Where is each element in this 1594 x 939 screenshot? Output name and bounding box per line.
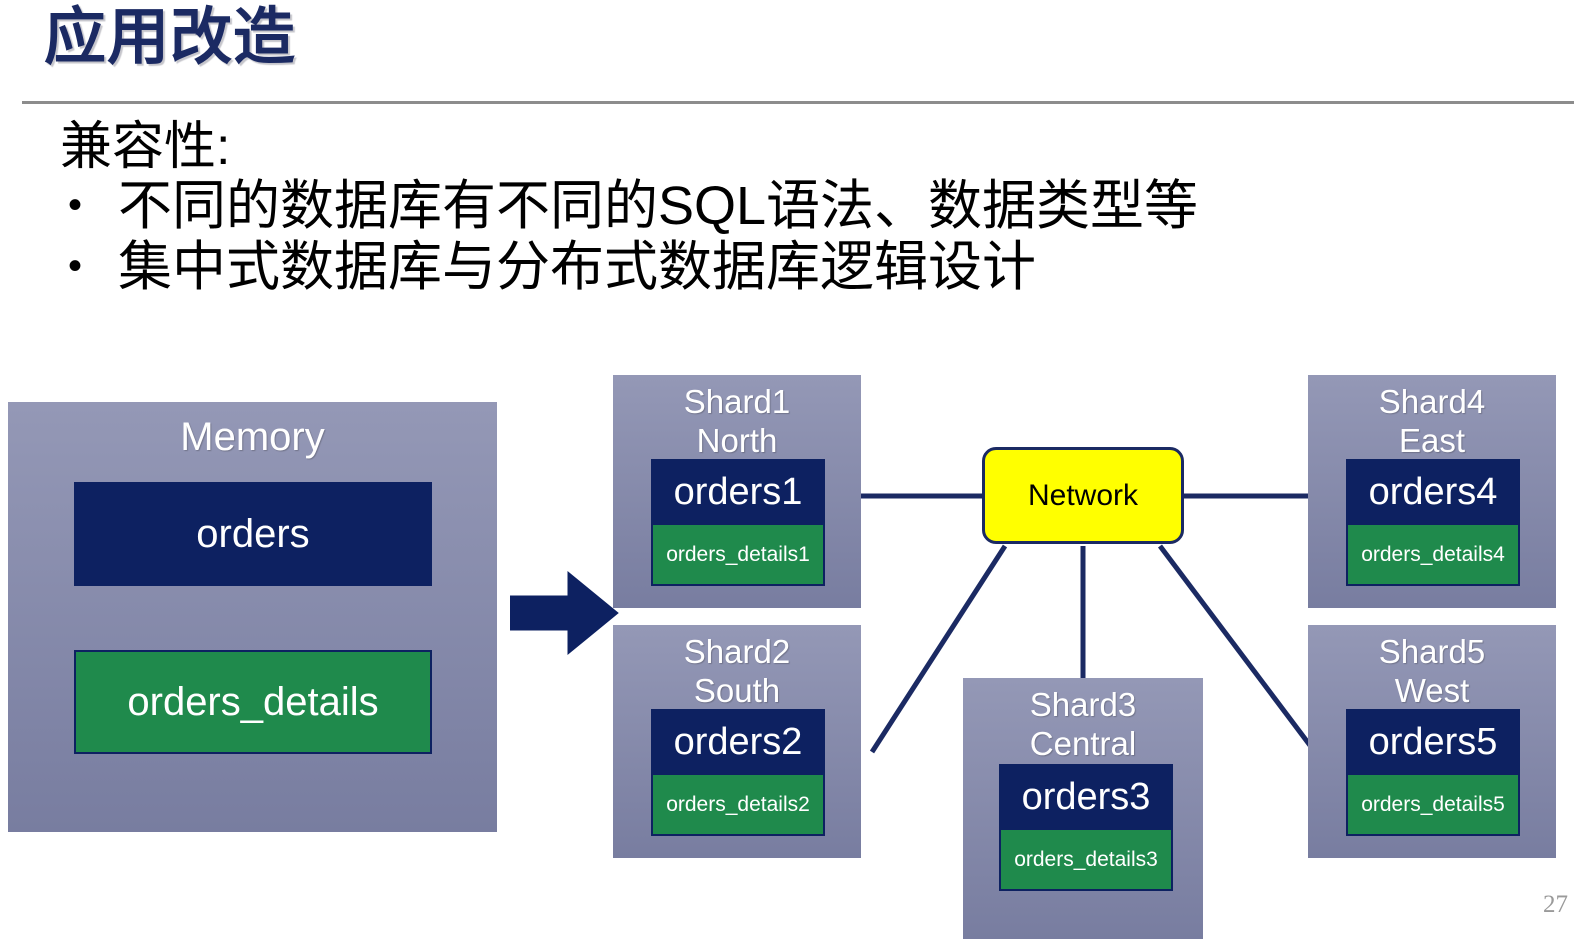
- shard3-orders-label: orders3: [1001, 766, 1171, 830]
- shard3-region: Central: [963, 725, 1203, 764]
- network-node-label: Network: [1028, 479, 1138, 513]
- shard2-orders-details-label: orders_details2: [653, 775, 823, 834]
- shard1-orders-label: orders1: [653, 461, 823, 525]
- memory-panel: Memory orders orders_details: [8, 402, 497, 832]
- shard-panel-shard5: Shard5 West orders5 orders_details5: [1308, 625, 1556, 858]
- shard1-tables: orders1 orders_details1: [651, 459, 825, 586]
- memory-orders-details-table: orders_details: [74, 650, 432, 754]
- shard2-region: South: [613, 672, 861, 711]
- shard-panel-shard2: Shard2 South orders2 orders_details2: [613, 625, 861, 858]
- shard3-title: Shard3 Central: [963, 678, 1203, 764]
- network-node: Network: [982, 447, 1184, 544]
- shard3-tables: orders3 orders_details3: [999, 764, 1173, 891]
- shard4-name: Shard4: [1379, 383, 1485, 420]
- shard4-tables: orders4 orders_details4: [1346, 459, 1520, 586]
- architecture-diagram: Memory orders orders_details Shard1 Nort…: [0, 0, 1594, 939]
- shard2-name: Shard2: [684, 633, 790, 670]
- shard1-orders-details-label: orders_details1: [653, 525, 823, 584]
- shard5-tables: orders5 orders_details5: [1346, 709, 1520, 836]
- shard5-title: Shard5 West: [1308, 625, 1556, 711]
- memory-panel-title: Memory: [8, 402, 497, 461]
- shard4-orders-details-label: orders_details4: [1348, 525, 1518, 584]
- shard-panel-shard1: Shard1 North orders1 orders_details1: [613, 375, 861, 608]
- shard5-region: West: [1308, 672, 1556, 711]
- shard1-name: Shard1: [684, 383, 790, 420]
- shard3-orders-details-label: orders_details3: [1001, 830, 1171, 889]
- shard5-orders-label: orders5: [1348, 711, 1518, 775]
- shard5-name: Shard5: [1379, 633, 1485, 670]
- shard4-title: Shard4 East: [1308, 375, 1556, 461]
- shard2-orders-label: orders2: [653, 711, 823, 775]
- memory-orders-details-label: orders_details: [127, 680, 378, 725]
- shard2-tables: orders2 orders_details2: [651, 709, 825, 836]
- shard5-orders-details-label: orders_details5: [1348, 775, 1518, 834]
- right-arrow-icon: [510, 568, 620, 658]
- memory-orders-label: orders: [196, 512, 309, 557]
- shard2-title: Shard2 South: [613, 625, 861, 711]
- shard1-title: Shard1 North: [613, 375, 861, 461]
- shard4-orders-label: orders4: [1348, 461, 1518, 525]
- shard-panel-shard4: Shard4 East orders4 orders_details4: [1308, 375, 1556, 608]
- shard-panel-shard3: Shard3 Central orders3 orders_details3: [963, 678, 1203, 939]
- slide-page-number: 27: [1543, 891, 1568, 919]
- shard3-name: Shard3: [1030, 686, 1136, 723]
- shard4-region: East: [1308, 422, 1556, 461]
- shard1-region: North: [613, 422, 861, 461]
- memory-orders-table: orders: [74, 482, 432, 586]
